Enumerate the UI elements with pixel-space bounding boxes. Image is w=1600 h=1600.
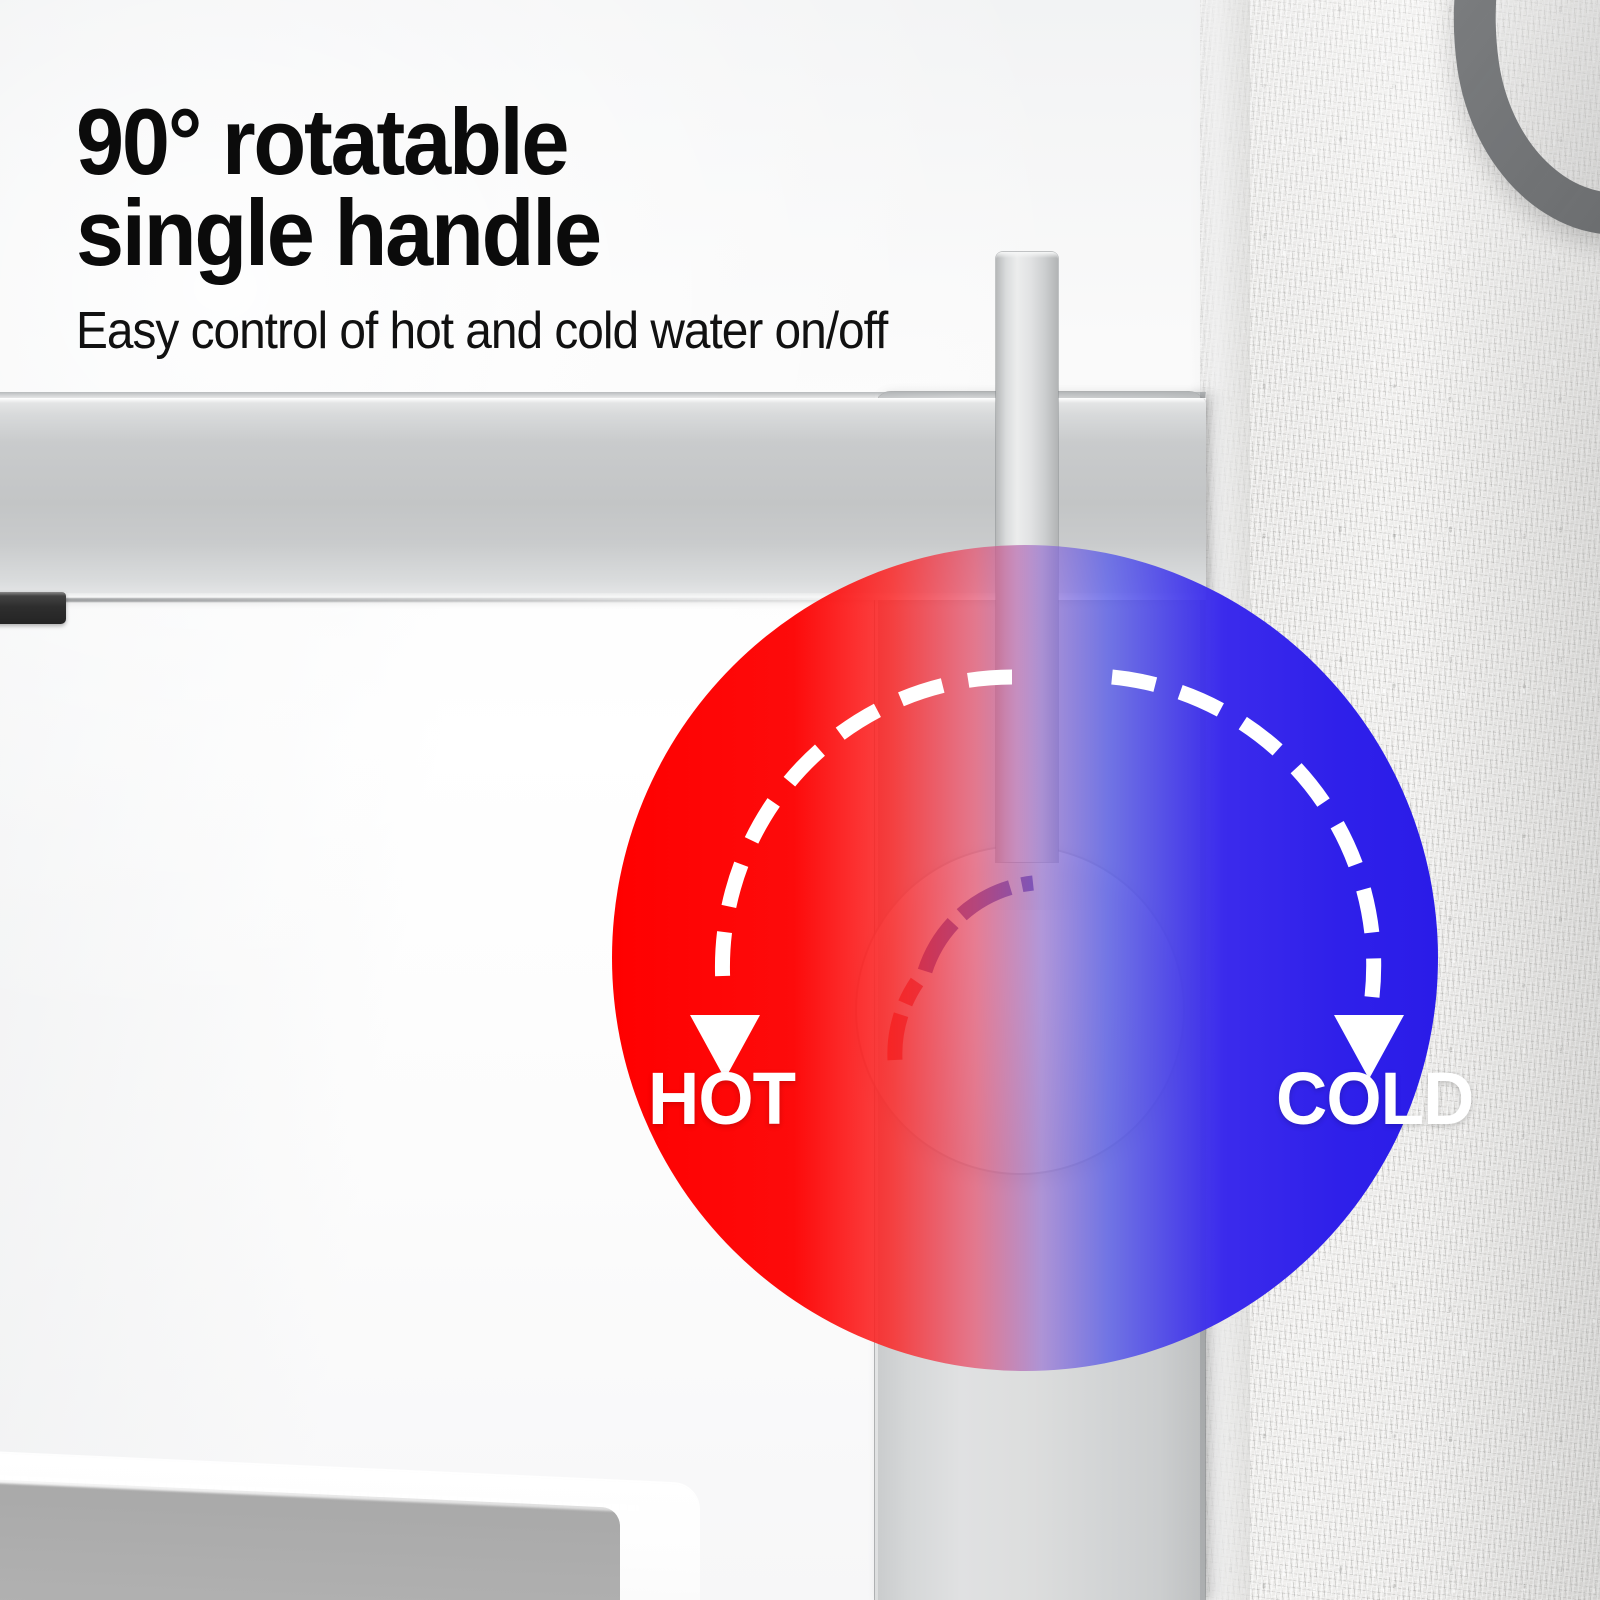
copy-block: 90° rotatable single handle Easy control…: [76, 96, 958, 359]
cold-label: COLD: [1276, 1062, 1473, 1136]
hot-label: HOT: [648, 1062, 795, 1136]
hot-arrow-arc: [722, 677, 1012, 997]
aerator-nozzle-icon: [0, 592, 66, 624]
rotation-arrows: [612, 545, 1438, 1371]
product-feature-banner: HOT COLD 90° rotatable single handle Eas…: [0, 0, 1600, 1600]
cold-arrow-arc: [1112, 677, 1374, 997]
page-title: 90° rotatable single handle: [76, 96, 887, 278]
page-subtitle: Easy control of hot and cold water on/of…: [76, 304, 887, 359]
